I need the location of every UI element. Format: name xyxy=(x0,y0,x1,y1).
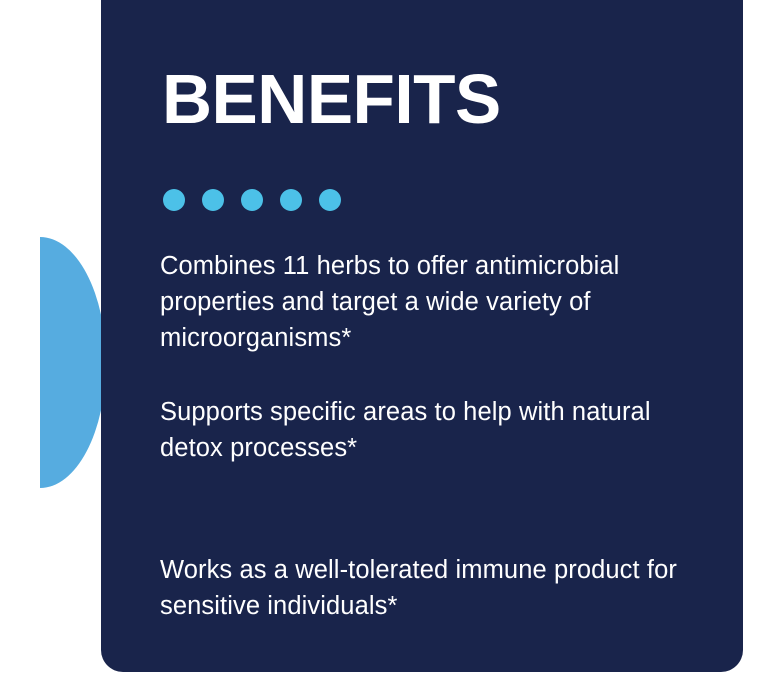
dot-divider xyxy=(163,189,341,211)
benefit-item: Combines 11 herbs to offer antimicrobial… xyxy=(160,248,720,356)
card-inner: BENEFITS Combines 11 herbs to offer anti… xyxy=(101,0,743,672)
dot-icon xyxy=(319,189,341,211)
benefit-list: Combines 11 herbs to offer antimicrobial… xyxy=(160,248,720,624)
dot-icon xyxy=(163,189,185,211)
benefits-graphic: BENEFITS Combines 11 herbs to offer anti… xyxy=(0,0,780,699)
dot-icon xyxy=(241,189,263,211)
benefits-card: BENEFITS Combines 11 herbs to offer anti… xyxy=(101,0,743,672)
blue-leaf-accent xyxy=(40,237,106,488)
benefit-item: Supports specific areas to help with nat… xyxy=(160,394,720,466)
page-title: BENEFITS xyxy=(162,64,501,134)
dot-icon xyxy=(202,189,224,211)
dot-icon xyxy=(280,189,302,211)
benefit-item: Works as a well-tolerated immune product… xyxy=(160,552,720,624)
